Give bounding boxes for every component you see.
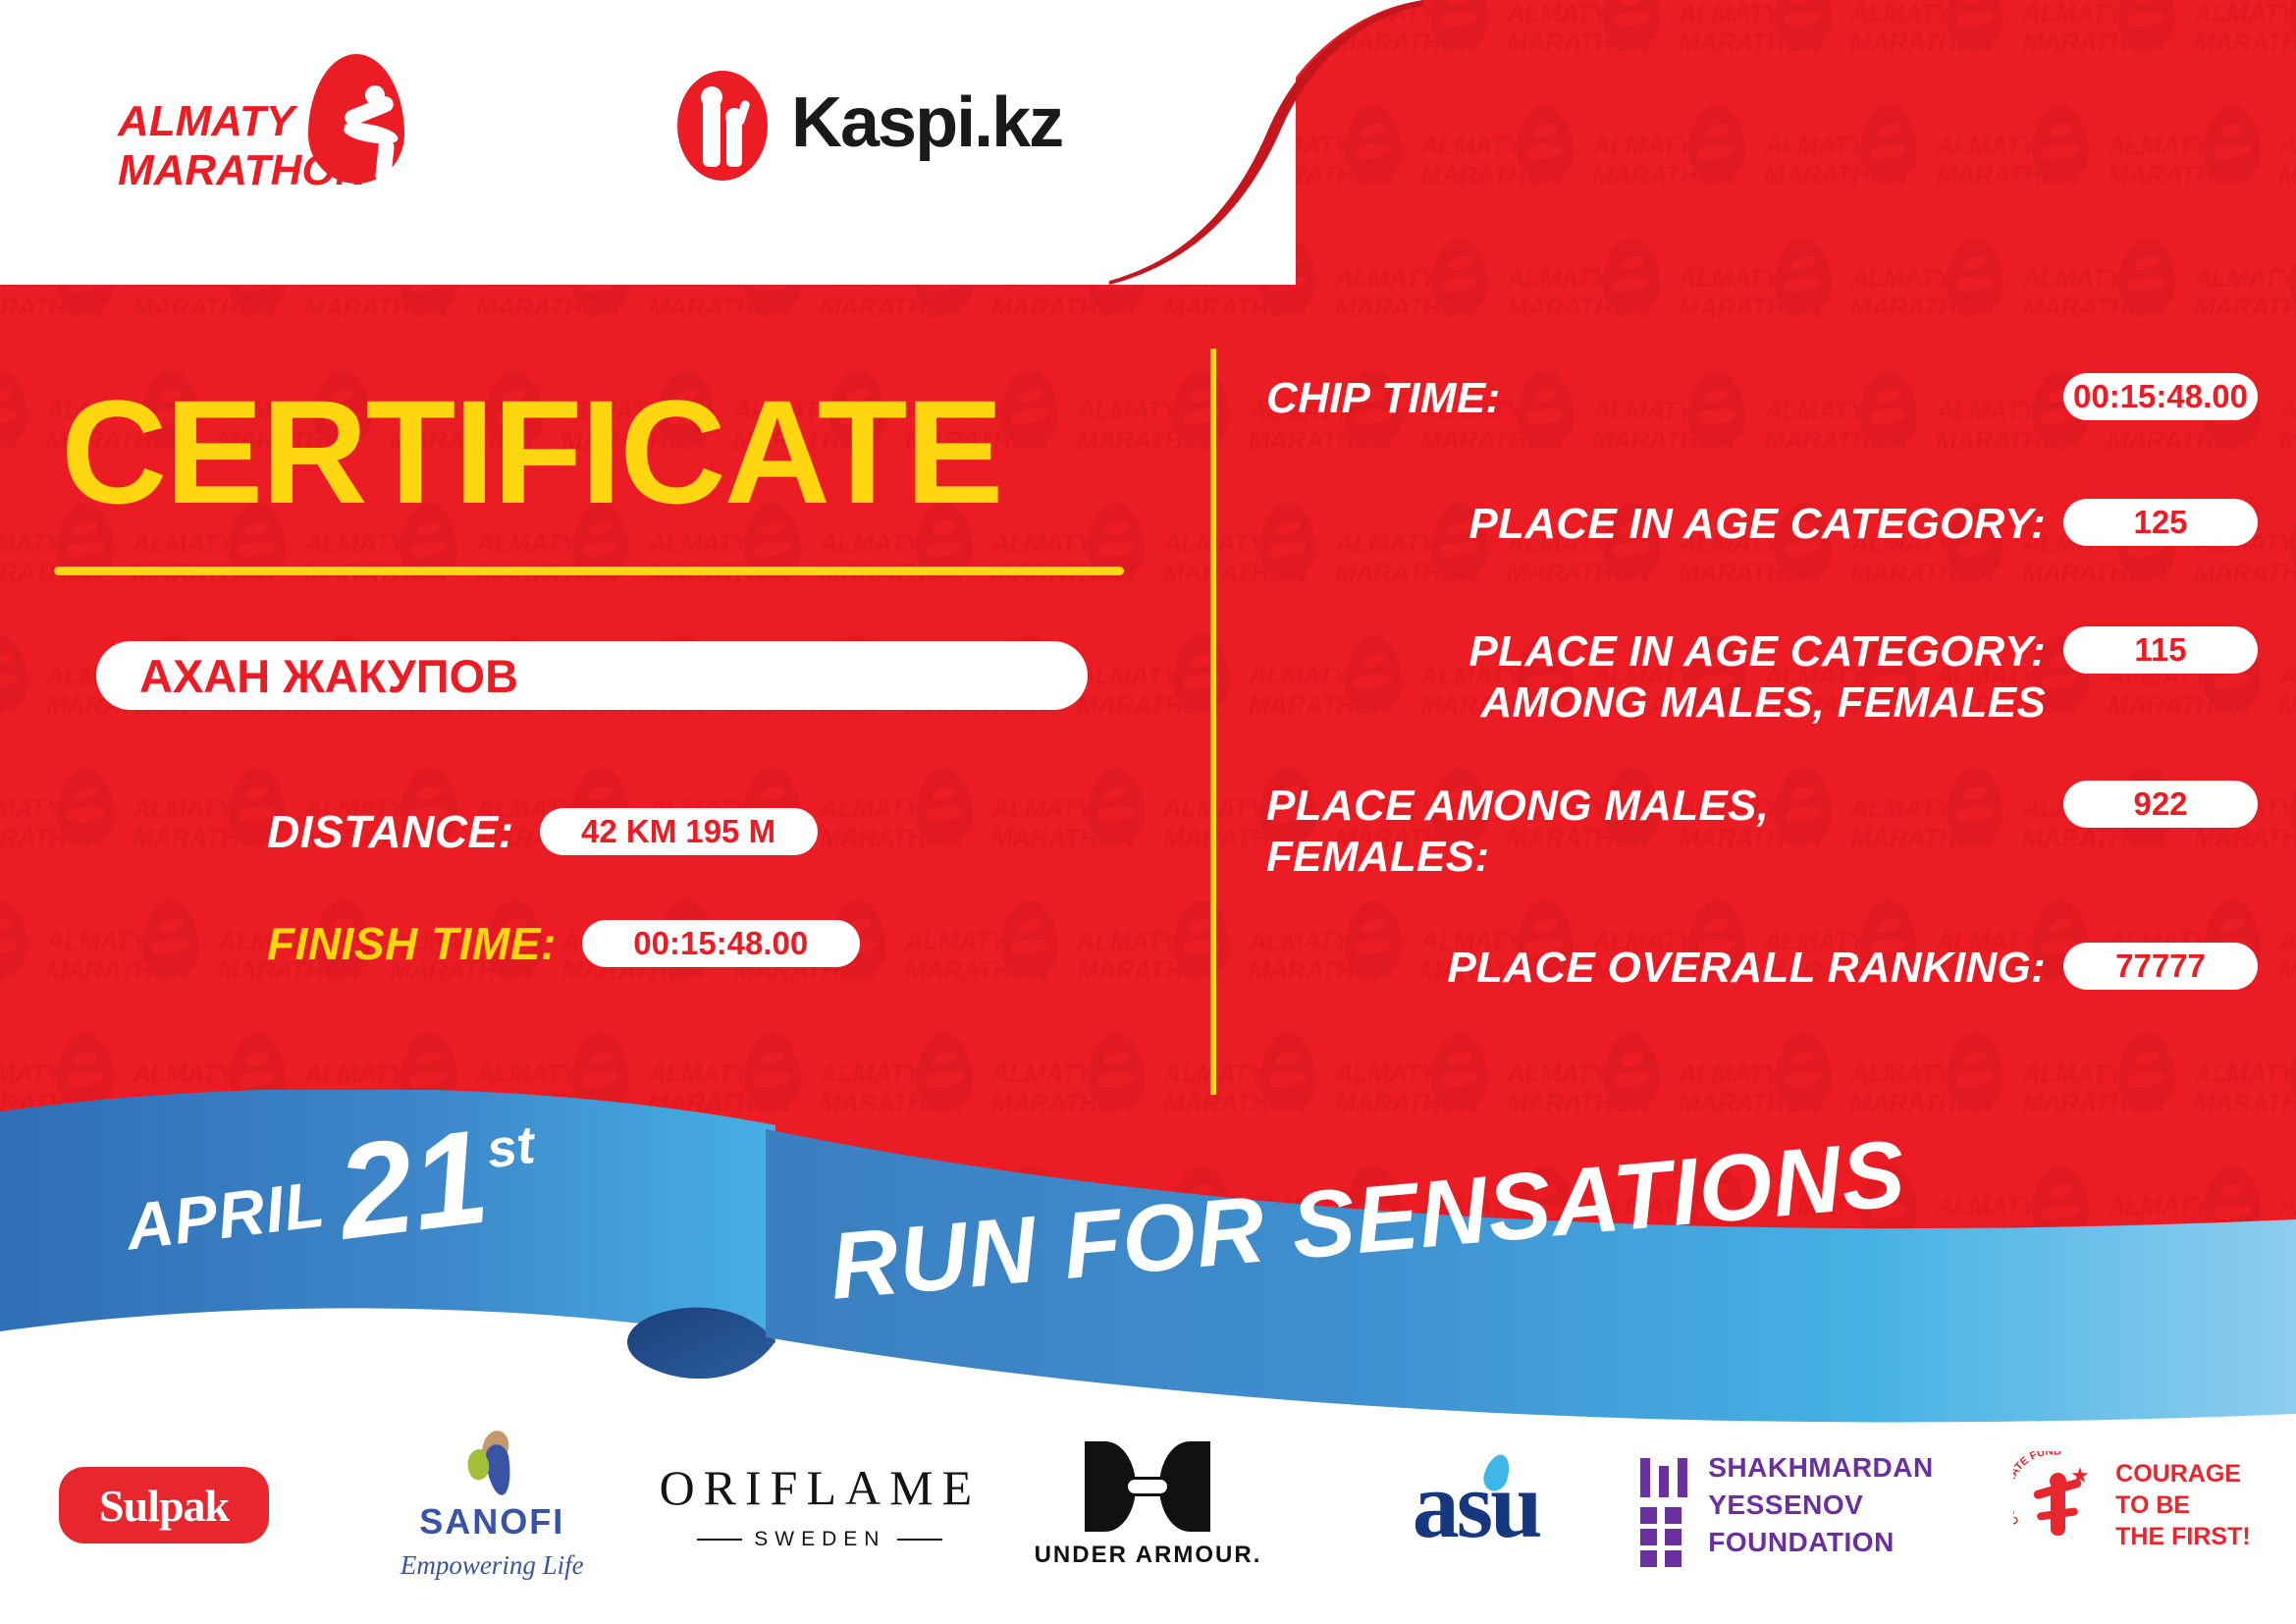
- watermark-tile: ALMATYMARATHON: [2108, 103, 2279, 236]
- watermark-tile: ALMATYMARATHON: [1679, 0, 1850, 103]
- sponsor-sulpak: Sulpak: [0, 1422, 328, 1589]
- watermark-text: ALMATYMARATHON: [2279, 131, 2296, 189]
- oriflame-sub-row: SWEDEN: [697, 1528, 942, 1551]
- courage-fund-mark-icon: CORPORATE FUND ★: [2013, 1451, 2104, 1559]
- place-among-males-females-label-line1: PLACE AMONG MALES,: [1266, 782, 1769, 830]
- place-age-category-among-label-line1: PLACE IN AGE CATEGORY:: [1468, 627, 2046, 676]
- almaty-line: ALMATY: [118, 97, 366, 146]
- watermark-text: ALMATYMARATHON: [1420, 131, 1548, 189]
- oriflame-rule-left-icon: [697, 1539, 742, 1541]
- event-date-day: 21: [332, 1116, 494, 1252]
- distance-value: 42 KM 195 M: [581, 813, 775, 850]
- yessenov-bar-1-icon: [1640, 1458, 1650, 1497]
- place-among-males-females-value: 922: [2133, 785, 2187, 823]
- yessenov-sq-1-icon: [1640, 1507, 1657, 1524]
- distance-label: DISTANCE:: [267, 805, 514, 858]
- courage-line3: THE FIRST!: [2115, 1521, 2251, 1552]
- watermark-text: ALMATYMARATHON: [1679, 0, 1806, 57]
- distance-row: DISTANCE: 42 KM 195 M: [267, 805, 818, 858]
- kaspi-people-icon: [677, 71, 768, 181]
- kaspi-wordmark: Kaspi.kz: [791, 82, 1062, 163]
- courage-line1: COURAGE: [2115, 1458, 2251, 1489]
- courage-fund-logo-row: CORPORATE FUND ★ COURAGE TO BE THE FIRST…: [2013, 1451, 2251, 1559]
- sulpak-logo-icon: Sulpak: [59, 1467, 269, 1543]
- watermark-text: ALMATYMARATHON: [1850, 263, 1978, 322]
- place-age-category-among-label: PLACE IN AGE CATEGORY:AMONG MALES, FEMAL…: [1266, 626, 2063, 729]
- watermark-text: ALMATYMARATHON: [2108, 131, 2235, 189]
- chip-time-value: 00:15:48.00: [2073, 378, 2248, 415]
- courage-line2: TO BE: [2115, 1489, 2251, 1521]
- yessenov-bar-2-icon: [1659, 1466, 1669, 1497]
- place-age-category-among-label-line2: AMONG MALES, FEMALES: [1480, 678, 2046, 727]
- place-among-males-females-label-line2: FEMALES:: [1266, 833, 1489, 881]
- kaspi-logo: Kaspi.kz: [677, 69, 1090, 187]
- watermark-tile: ALMATYMARATHON: [1936, 103, 2108, 236]
- asu-wordmark: asu: [1413, 1452, 1540, 1557]
- yessenov-sq-6-icon: [1665, 1550, 1682, 1567]
- watermark-tile: ALMATYMARATHON: [1850, 236, 2022, 368]
- stat-row-place-overall-ranking: PLACE OVERALL RANKING: 77777: [1266, 943, 2258, 994]
- finish-time-pill: 00:15:48.00: [582, 920, 860, 967]
- watermark-text: ALMATYMARATHON: [2279, 396, 2296, 455]
- sponsor-courage-fund: CORPORATE FUND ★ COURAGE TO BE THE FIRST…: [1968, 1422, 2296, 1589]
- watermark-tile: ALMATYMARATHON: [2194, 0, 2296, 103]
- asu-logo-icon: asu: [1413, 1458, 1540, 1552]
- sponsor-under-armour: UNDER ARMOUR.: [984, 1422, 1311, 1589]
- place-among-males-females-pill: 922: [2063, 781, 2258, 828]
- place-age-category-label: PLACE IN AGE CATEGORY:: [1266, 499, 2063, 550]
- sanofi-logo-icon: [461, 1431, 522, 1495]
- under-armour-wordmark: UNDER ARMOUR.: [1035, 1542, 1262, 1569]
- courage-star-icon: ★: [2070, 1463, 2090, 1489]
- watermark-tile: ALMATYMARATHON: [1764, 103, 1936, 236]
- ua-crossbar-hole-icon: [1128, 1480, 1167, 1493]
- event-date-suffix: st: [484, 1114, 538, 1180]
- watermark-tile: ALMATYMARATHON: [2022, 236, 2194, 368]
- yessenov-sq-4-icon: [1665, 1529, 1682, 1545]
- watermark-text: ALMATYMARATHON: [2194, 0, 2296, 57]
- watermark-text: ALMATYMARATHON: [1936, 131, 2063, 189]
- watermark-text: ALMATYMARATHON: [1592, 131, 1720, 189]
- sponsor-yessenov-foundation: SHAKHMARDAN YESSENOV FOUNDATION: [1640, 1422, 1968, 1589]
- oriflame-wordmark: ORIFLAME: [660, 1459, 982, 1516]
- place-age-category-among-pill: 115: [2063, 626, 2258, 674]
- sanofi-tagline: Empowering Life: [400, 1550, 584, 1581]
- yessenov-mark-icon: [1640, 1458, 1689, 1552]
- title-underline: [54, 567, 1124, 575]
- sponsor-strip: Sulpak SANOFI Empowering Life ORIFLAME S…: [0, 1422, 2296, 1589]
- distance-pill: 42 KM 195 M: [540, 808, 818, 855]
- place-overall-ranking-pill: 77777: [2063, 943, 2258, 990]
- place-age-category-value: 125: [2133, 504, 2187, 541]
- watermark-text: ALMATYMARATHON: [2279, 926, 2296, 985]
- watermark-tile: ALMATYMARATHON: [2279, 368, 2296, 501]
- watermark-text: ALMATYMARATHON: [2022, 263, 2150, 322]
- watermark-text: ALMATYMARATHON: [1850, 0, 1978, 57]
- sponsor-oriflame: ORIFLAME SWEDEN: [656, 1422, 984, 1589]
- watermark-text: ALMATYMARATHON: [2279, 661, 2296, 720]
- watermark-tile: ALMATYMARATHON: [2022, 0, 2194, 103]
- yessenov-sq-2-icon: [1665, 1507, 1682, 1524]
- chip-time-label: CHIP TIME:: [1266, 373, 2063, 424]
- sulpak-wordmark: Sulpak: [99, 1480, 229, 1532]
- sponsor-sanofi: SANOFI Empowering Life: [328, 1422, 656, 1589]
- place-among-males-females-label: PLACE AMONG MALES,FEMALES:: [1266, 781, 2063, 883]
- place-age-category-pill: 125: [2063, 499, 2258, 546]
- chip-time-pill: 00:15:48.00: [2063, 373, 2258, 420]
- yessenov-logo-row: SHAKHMARDAN YESSENOV FOUNDATION: [1640, 1449, 1968, 1561]
- watermark-tile: ALMATYMARATHON: [1507, 236, 1679, 368]
- almaty-marathon-logo: ALMATY MARATHON: [118, 54, 452, 196]
- watermark-tile: ALMATYMARATHON: [1420, 103, 1592, 236]
- place-overall-ranking-label: PLACE OVERALL RANKING:: [1266, 943, 2063, 994]
- watermark-tile: ALMATYMARATHON: [2279, 898, 2296, 1031]
- stat-row-chip-time: CHIP TIME: 00:15:48.00: [1266, 373, 2258, 424]
- athlete-name-field: АХАН ЖАКУПОВ: [96, 641, 1088, 710]
- oriflame-sub-text: SWEDEN: [754, 1528, 885, 1551]
- watermark-tile: ALMATYMARATHON: [2194, 236, 2296, 368]
- stat-row-place-age-category-among: PLACE IN AGE CATEGORY:AMONG MALES, FEMAL…: [1266, 626, 2258, 729]
- place-age-category-among-value: 115: [2134, 631, 2186, 669]
- marathon-line: MARATHON: [118, 146, 366, 195]
- yessenov-sq-5-icon: [1640, 1550, 1657, 1567]
- runner-leg-icon: [375, 139, 395, 182]
- watermark-text: ALMATYMARATHON: [2194, 263, 2296, 322]
- yessenov-line1: SHAKHMARDAN YESSENOV: [1708, 1449, 1968, 1524]
- stat-row-place-age-category: PLACE IN AGE CATEGORY: 125: [1266, 499, 2258, 550]
- watermark-tile: ALMATYMARATHON: [1679, 236, 1850, 368]
- certificate-canvas: ALMATYMARATHONALMATYMARATHONALMATYMARATH…: [0, 0, 2296, 1624]
- oriflame-rule-right-icon: [897, 1539, 942, 1541]
- watermark-text: ALMATYMARATHON: [1507, 0, 1634, 57]
- vertical-divider: [1210, 349, 1216, 1095]
- page-title: CERTIFICATE: [61, 378, 1002, 525]
- sponsor-asu: asu: [1312, 1422, 1640, 1589]
- watermark-tile: ALMATYMARATHON: [1850, 0, 2022, 103]
- watermark-text: ALMATYMARATHON: [1507, 263, 1634, 322]
- finish-time-value: 00:15:48.00: [633, 925, 808, 962]
- sanofi-wordmark: SANOFI: [419, 1501, 564, 1543]
- yessenov-sq-3-icon: [1640, 1529, 1657, 1545]
- finish-time-row: FINISH TIME: 00:15:48.00: [267, 917, 860, 970]
- watermark-tile: ALMATYMARATHON: [1507, 0, 1679, 103]
- finish-time-label: FINISH TIME:: [267, 917, 557, 970]
- watermark-text: ALMATYMARATHON: [2022, 0, 2150, 57]
- under-armour-logo-icon: [1085, 1441, 1210, 1532]
- watermark-tile: ALMATYMARATHON: [2279, 633, 2296, 766]
- kaspi-adult-head-icon: [701, 86, 722, 108]
- courage-fund-wordmark: COURAGE TO BE THE FIRST!: [2115, 1458, 2251, 1552]
- watermark-text: ALMATYMARATHON: [1679, 263, 1806, 322]
- place-overall-ranking-value: 77777: [2115, 947, 2206, 985]
- athlete-name-value: АХАН ЖАКУПОВ: [139, 649, 518, 703]
- kaspi-child-arm-icon: [734, 99, 751, 127]
- watermark-tile: ALMATYMARATHON: [1592, 103, 1764, 236]
- yessenov-wordmark: SHAKHMARDAN YESSENOV FOUNDATION: [1708, 1449, 1968, 1561]
- watermark-text: ALMATYMARATHON: [1764, 131, 1892, 189]
- yessenov-bar-3-icon: [1678, 1458, 1687, 1497]
- yessenov-line2: FOUNDATION: [1708, 1524, 1968, 1561]
- stat-row-place-among-males-females: PLACE AMONG MALES,FEMALES: 922: [1266, 781, 2258, 883]
- almaty-marathon-wordmark: ALMATY MARATHON: [118, 97, 366, 195]
- watermark-tile: ALMATYMARATHON: [2279, 103, 2296, 236]
